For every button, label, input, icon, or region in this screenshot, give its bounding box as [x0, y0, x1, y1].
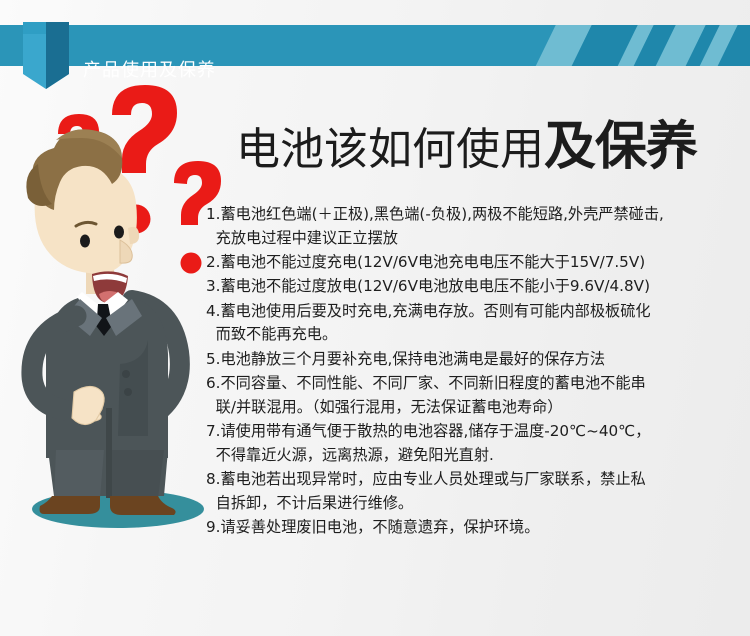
list-item: 1.蓄电池红色端(＋正极),黑色端(-负极),两极不能短路,外壳严禁碰击, 充放… [206, 203, 740, 251]
banner-title: 产品使用及保养 [83, 55, 216, 86]
trouser-right [110, 450, 164, 498]
page-title-bold: 及保养 [544, 117, 697, 177]
list-item: 4.蓄电池使用后要及时充电,充满电存放。否则有可能内部极板硫化 而致不能再充电。 [206, 300, 740, 348]
page-root: 产品使用及保养 [0, 0, 750, 636]
jacket-button-1 [122, 370, 130, 378]
instruction-list: 1.蓄电池红色端(＋正极),黑色端(-负极),两极不能短路,外壳严禁碰击, 充放… [206, 203, 740, 541]
list-item: 9.请妥善处理废旧电池，不随意遗弃，保护环境。 [206, 516, 740, 540]
jacket-button-2 [124, 388, 132, 396]
list-item: 3.蓄电池不能过度放电(12V/6V电池放电电压不能小于9.6V/4.8V) [206, 275, 740, 299]
hand-on-hip [72, 386, 104, 424]
trouser-crease [106, 408, 112, 498]
banner-ribbon-icon [23, 22, 69, 89]
eye-right [114, 226, 124, 239]
list-item: 6.不同容量、不同性能、不同厂家、不同新旧程度的蓄电池不能串 联/并联混用。（如… [206, 372, 740, 420]
list-item: 5.电池静放三个月要补充电,保持电池满电是最好的保存方法 [206, 348, 740, 372]
page-title-light: 电池该如何使用 [236, 124, 544, 175]
list-item: 8.蓄电池若出现异常时，应由专业人员处理或与厂家联系，禁止私 自拆卸，不计后果进… [206, 468, 740, 516]
page-title: 电池该如何使用及保养 [236, 121, 697, 173]
confused-businessman-illustration [0, 78, 240, 548]
list-item: 7.请使用带有通气便于散热的电池容器,储存于温度-20℃~40℃， 不得靠近火源… [206, 420, 740, 468]
trouser-left [54, 450, 104, 498]
header-banner: 产品使用及保养 [0, 25, 750, 66]
eye-left [80, 235, 90, 248]
list-item: 2.蓄电池不能过度充电(12V/6V电池充电电压不能大于15V/7.5V) [206, 251, 740, 275]
